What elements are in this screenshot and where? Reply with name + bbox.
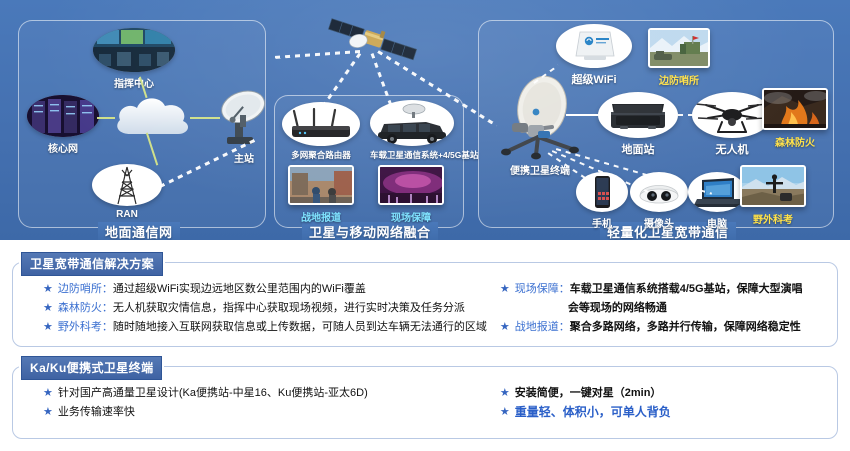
link-cloud-to-station (190, 117, 220, 119)
star-icon: ★ (500, 385, 510, 401)
wifi-access-point-photo (556, 24, 632, 68)
forest-fire-image (764, 90, 826, 128)
bullet-hts-design: ★ 针对国产高通量卫星设计(Ka便携站-中星16、Ku便携站-亚太6D) (43, 385, 492, 401)
border-post-svg (650, 30, 710, 68)
border-post-image (650, 30, 708, 66)
bullet-field-research-desc: 随时随地接入互联网获取信息或上传数据，可随人员到达车辆无法通行的区域 (113, 319, 487, 335)
node-command-center: 指挥中心 (93, 28, 175, 90)
bullet-border-post: ★ 边防哨所： 通过超级WiFi实现边远地区数公里范围内的WiFi覆盖 (43, 281, 492, 297)
bullet-forest-fire-term: 森林防火： (58, 300, 113, 316)
scene-war-report-label: 战地报道 (288, 209, 354, 224)
bullet-onsite-support-cont-text: 会等现场的网络畅通 (568, 300, 667, 316)
bullet-border-post-desc: 通过超级WiFi实现边远地区数公里范围内的WiFi覆盖 (113, 281, 366, 297)
war-report-frame (288, 165, 354, 205)
onsite-support-image (380, 167, 442, 203)
border-post-frame (648, 28, 710, 68)
section-solution-title: 卫星宽带通信解决方案 (21, 252, 163, 276)
portable-satellite-dish-icon (492, 75, 588, 161)
node-camera: 摄像头 (630, 172, 688, 230)
bullet-field-research: ★ 野外科考： 随时随地接入互联网获取信息或上传数据，可随人员到达车辆无法通行的… (43, 319, 492, 335)
node-multi-net-router-label: 多网聚合路由器 (282, 149, 360, 161)
cell-tower-photo (92, 164, 162, 206)
star-icon: ★ (43, 319, 53, 335)
bullet-fast-transmission-desc: 业务传输速率快 (58, 404, 135, 420)
laptop-svg (688, 172, 746, 212)
drone-svg (692, 92, 772, 138)
section-terminal-left-column: ★ 针对国产高通量卫星设计(Ka便携站-中星16、Ku便携站-亚太6D) ★ 业… (13, 385, 492, 423)
onsite-support-frame (378, 165, 444, 205)
link-ground-station-to-drone (678, 114, 694, 116)
panel-satellite-mobile-fusion-title: 卫星与移动网络融合 (302, 222, 438, 240)
node-ground-station-label: 地面站 (598, 141, 678, 157)
star-icon: ★ (43, 281, 53, 297)
bullet-onsite-support: ★ 现场保障： 车载卫星通信系统搭载4/5G基站，保障大型演唱 (500, 281, 837, 297)
node-ran-label: RAN (92, 209, 162, 220)
forest-fire-frame (762, 88, 828, 130)
bullet-onsite-support-cont: 会等现场的网络畅通 (500, 300, 837, 316)
node-command-center-label: 指挥中心 (93, 75, 175, 90)
war-report-svg (290, 167, 354, 205)
scene-forest-fire-label: 森林防火 (762, 134, 828, 149)
node-computer-label: 电脑 (688, 215, 746, 230)
bullet-lightweight: ★ 重量轻、体积小，可单人背负 (500, 404, 837, 420)
section-terminal-right-column: ★ 安装简便，一键对星（2min） ★ 重量轻、体积小，可单人背负 (492, 385, 837, 423)
bullet-forest-fire: ★ 森林防火： 无人机获取灾情信息，指挥中心获取现场视频，进行实时决策及任务分派 (43, 300, 492, 316)
link-terminal-to-ground-station (566, 114, 598, 116)
node-camera-label: 摄像头 (630, 215, 688, 230)
bullet-onsite-support-term: 现场保障： (515, 281, 570, 297)
wifi-access-point-svg (556, 24, 632, 68)
large-dish-antenna-icon (213, 85, 275, 147)
satcom-vehicle-photo (370, 100, 454, 146)
cloud-icon (110, 92, 196, 142)
onsite-support-svg (380, 167, 444, 205)
field-research-image (742, 167, 804, 205)
architecture-diagram: 地面通信网 指挥中心 (0, 0, 850, 240)
link-core-to-cloud (97, 117, 115, 119)
section-solution-left-column: ★ 边防哨所： 通过超级WiFi实现边远地区数公里范围内的WiFi覆盖 ★ 森林… (13, 281, 492, 338)
bullet-lightweight-desc: 重量轻、体积小，可单人背负 (515, 404, 671, 420)
node-core-network: 核心网 (27, 95, 99, 155)
scene-border-post-label: 边防哨所 (648, 72, 710, 87)
rugged-case-svg (598, 92, 678, 138)
rugged-case-photo (598, 92, 678, 138)
node-computer: 电脑 (688, 172, 746, 230)
node-cloud (110, 92, 196, 147)
bullet-field-research-term: 野外科考： (58, 319, 113, 335)
cell-tower-svg (92, 164, 162, 206)
scene-field-research: 野外科考 (740, 165, 806, 226)
node-vehicle-satcom-label: 车载卫星通信系统+4/5G基站 (370, 149, 478, 161)
war-report-image (290, 167, 352, 203)
bullet-easy-install-desc: 安装简便，一键对星（2min） (515, 385, 662, 401)
laptop-photo (688, 172, 746, 212)
section-terminal-title: Ka/Ku便携式卫星终端 (21, 356, 162, 380)
scene-forest-fire: 森林防火 (762, 88, 828, 149)
section-solution-right-column: ★ 现场保障： 车载卫星通信系统搭载4/5G基站，保障大型演唱 会等现场的网络畅… (492, 281, 837, 338)
star-icon: ★ (500, 404, 510, 420)
server-rack-photo (27, 95, 99, 137)
bullet-onsite-support-desc: 车载卫星通信系统搭载4/5G基站，保障大型演唱 (570, 281, 803, 297)
node-ran: RAN (92, 164, 162, 220)
scene-war-report: 战地报道 (288, 165, 354, 224)
satellite-icon (318, 14, 424, 74)
panel-terrestrial-network-title: 地面通信网 (98, 222, 180, 240)
satcom-vehicle-svg (370, 100, 454, 146)
star-icon: ★ (500, 281, 510, 297)
node-drone: 无人机 (692, 92, 772, 157)
forest-fire-svg (764, 90, 828, 130)
bullet-fast-transmission: ★ 业务传输速率快 (43, 404, 492, 420)
command-center-image (93, 28, 175, 72)
node-ground-station: 地面站 (598, 92, 678, 157)
node-core-network-label: 核心网 (27, 140, 99, 155)
field-research-svg (742, 167, 806, 207)
scene-border-post: 边防哨所 (648, 28, 710, 87)
star-icon: ★ (500, 319, 510, 335)
field-research-frame (740, 165, 806, 207)
node-vehicle-satcom: 车载卫星通信系统+4/5G基站 (370, 100, 478, 161)
scene-onsite-support: 现场保障 (378, 165, 444, 224)
section-solution: 卫星宽带通信解决方案 ★ 边防哨所： 通过超级WiFi实现边远地区数公里范围内的… (12, 262, 838, 347)
node-drone-label: 无人机 (692, 141, 772, 157)
server-rack-image (27, 95, 99, 137)
section-terminal-head: Ka/Ku便携式卫星终端 (19, 356, 164, 380)
bullet-forest-fire-desc: 无人机获取灾情信息，指挥中心获取现场视频，进行实时决策及任务分派 (113, 300, 465, 316)
section-terminal: Ka/Ku便携式卫星终端 ★ 针对国产高通量卫星设计(Ka便携站-中星16、Ku… (12, 366, 838, 439)
bullet-war-report: ★ 战地报道： 聚合多路网络，多路并行传输，保障网络稳定性 (500, 319, 837, 335)
bullet-easy-install: ★ 安装简便，一键对星（2min） (500, 385, 837, 401)
bullet-war-report-desc: 聚合多路网络，多路并行传输，保障网络稳定性 (570, 319, 801, 335)
scene-field-research-label: 野外科考 (740, 211, 806, 226)
drone-photo (692, 92, 772, 138)
scene-onsite-support-label: 现场保障 (378, 209, 444, 224)
star-icon: ★ (43, 300, 53, 316)
bullet-war-report-term: 战地报道： (515, 319, 570, 335)
command-center-svg (93, 28, 175, 72)
node-phone-label: 手机 (576, 215, 628, 230)
star-icon: ★ (43, 404, 53, 420)
server-rack-svg (27, 95, 99, 137)
command-center-photo (93, 28, 175, 72)
bullet-hts-design-desc: 针对国产高通量卫星设计(Ka便携站-中星16、Ku便携站-亚太6D) (58, 385, 368, 401)
bullet-border-post-term: 边防哨所： (58, 281, 113, 297)
section-solution-head: 卫星宽带通信解决方案 (19, 252, 165, 276)
star-icon: ★ (43, 385, 53, 401)
